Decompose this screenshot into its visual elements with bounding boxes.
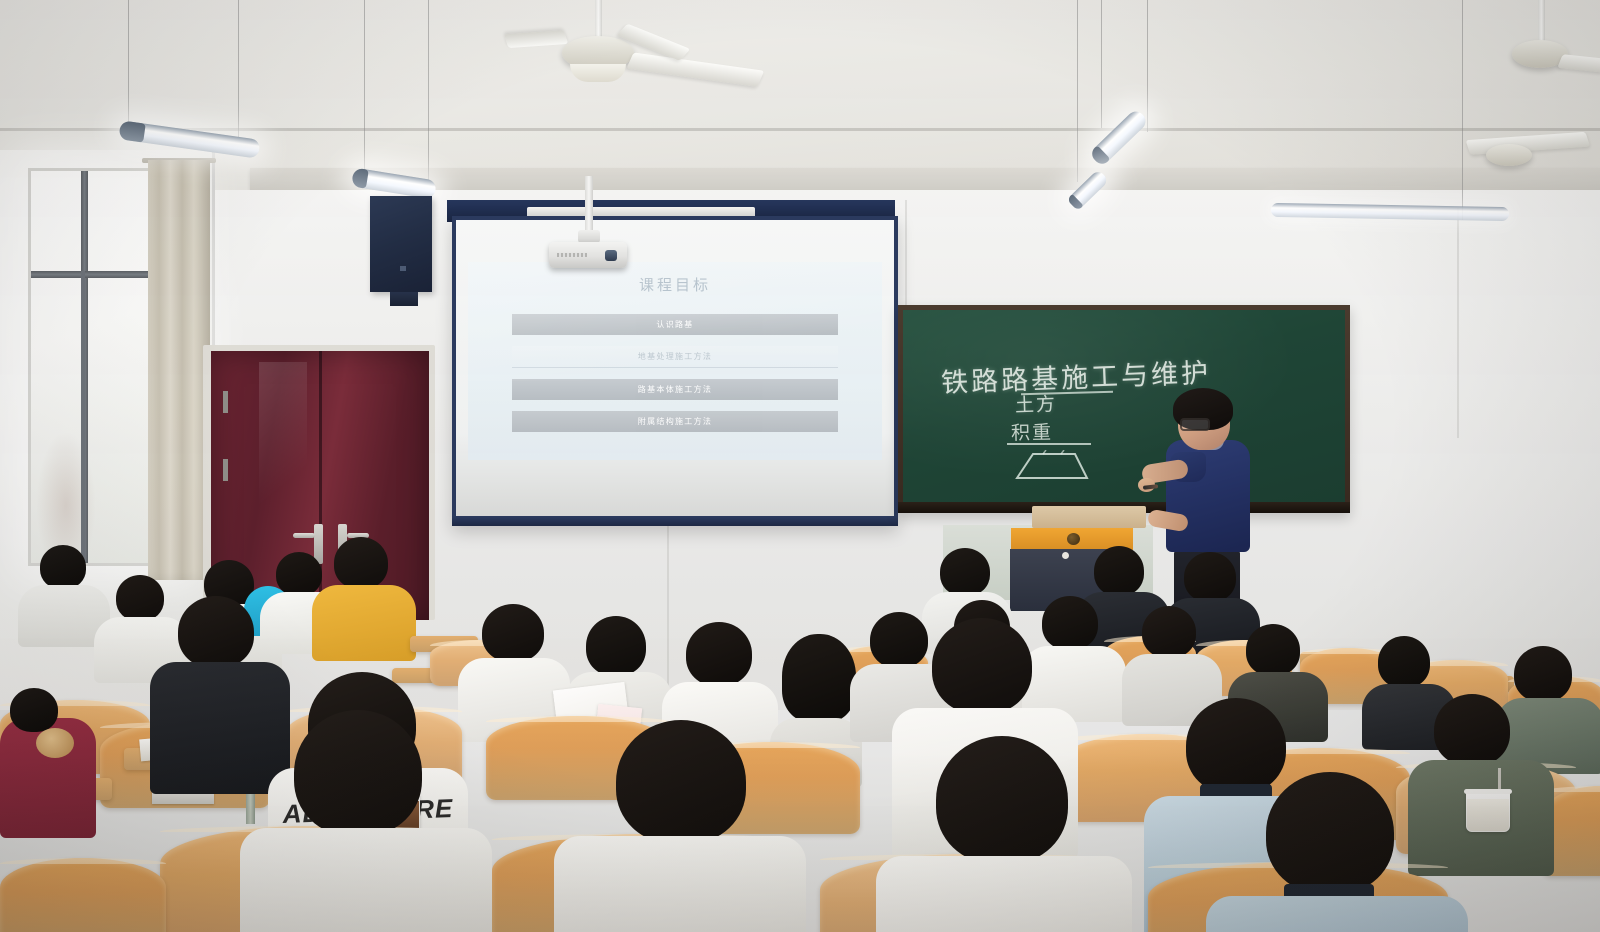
student-head [932,618,1032,714]
projector-mount-pole [585,176,593,234]
light-wire [364,0,365,176]
wall-speaker [370,196,432,292]
ceiling-seam [0,128,1600,131]
student-torso [240,828,492,932]
light-wire [128,0,129,132]
student-head [334,537,388,589]
podium-knob[interactable] [1067,533,1080,545]
student-head [782,634,856,722]
projected-slide: 课程目标 认识路基 地基处理施工方法 路基本体施工方法 附属结构施工方法 [468,262,882,460]
student-head [686,622,752,686]
blackboard: 铁路路基施工与维护 土方 积重 [898,305,1350,513]
student-head [178,596,254,668]
student-head [116,575,164,621]
student-head [1042,596,1098,650]
projection-screen-weight-bar [452,517,898,526]
student-head [1266,772,1394,894]
student-head [1514,646,1572,702]
slide-title: 课程目标 [468,274,882,295]
light-wire [1462,0,1463,220]
projector-lens [605,250,617,261]
student-torso [150,662,290,794]
blackboard-trapezoid-diagram [1013,450,1091,480]
student-head [616,720,746,844]
snack[interactable] [36,728,74,758]
wall-seam [1457,208,1459,438]
student-head [1434,694,1510,766]
cup-contents [1467,799,1509,831]
fan-downrod [1538,0,1545,44]
light-wire [1101,0,1102,128]
blackboard-sub-line-2: 积重 [1011,418,1053,446]
glasses-icon [1180,418,1210,431]
student-head [294,710,422,836]
fan-motor-housing [1486,144,1532,166]
student-torso [1206,896,1468,932]
speaker-indicator [400,266,406,271]
student-head [10,688,58,732]
slide-bullet-list: 认识路基 地基处理施工方法 路基本体施工方法 附属结构施工方法 [512,314,838,443]
seat-top-edge [486,716,668,722]
slide-bullet-3: 路基本体施工方法 [512,379,838,400]
student-head [276,552,322,596]
wall-seam [905,200,907,310]
student-torso [554,836,806,932]
podium-top [1032,506,1146,528]
door-hinge [223,459,228,481]
student-head [1094,546,1144,596]
door-hinge [223,391,228,413]
student-head [40,545,86,589]
door-lever-left[interactable] [293,533,315,538]
blackboard-surface: 铁路路基施工与维护 土方 积重 [903,310,1345,502]
projection-screen: 课程目标 认识路基 地基处理施工方法 路基本体施工方法 附属结构施工方法 [452,216,898,526]
seat-top-edge [0,858,166,864]
cup-lid [1464,789,1512,794]
slide-bullet-2: 地基处理施工方法 [512,346,838,368]
ceiling-beam [250,168,1600,190]
student-head [870,612,928,668]
student-head [1246,624,1300,676]
student-head [1184,552,1236,602]
speaker-mount [390,292,418,306]
light-wire [1147,0,1148,132]
podium-indicator [1062,552,1069,559]
student-head [936,736,1068,864]
projection-screen-surface: 课程目标 认识路基 地基处理施工方法 路基本体施工方法 附属结构施工方法 [456,220,894,516]
projector-vent [557,253,587,257]
student-head [940,548,990,596]
light-wire [428,0,429,182]
classroom-photo: 课程目标 认识路基 地基处理施工方法 路基本体施工方法 附属结构施工方法 铁路路… [0,0,1600,932]
student-head [482,604,544,662]
student-head [1186,698,1286,794]
blackboard-rule [1007,443,1091,445]
seat[interactable] [0,858,166,932]
light-wire [1077,0,1078,182]
drink-cup[interactable] [1466,792,1510,832]
slide-bullet-1: 认识路基 [512,314,838,335]
window-mullion-vertical [81,271,85,563]
student-head [1142,606,1196,658]
student-head [586,616,646,676]
blackboard-sub-line-1: 土方 [1015,395,1058,416]
light-wire [238,0,239,142]
slide-bullet-4: 附属结构施工方法 [512,411,838,432]
door-sheen [259,362,307,529]
student-torso [876,856,1132,932]
fan-downrod [595,0,602,40]
student-head [1378,636,1430,688]
ceiling-projector [549,242,627,268]
student-torso [312,585,416,661]
window-curtain[interactable] [148,160,210,580]
